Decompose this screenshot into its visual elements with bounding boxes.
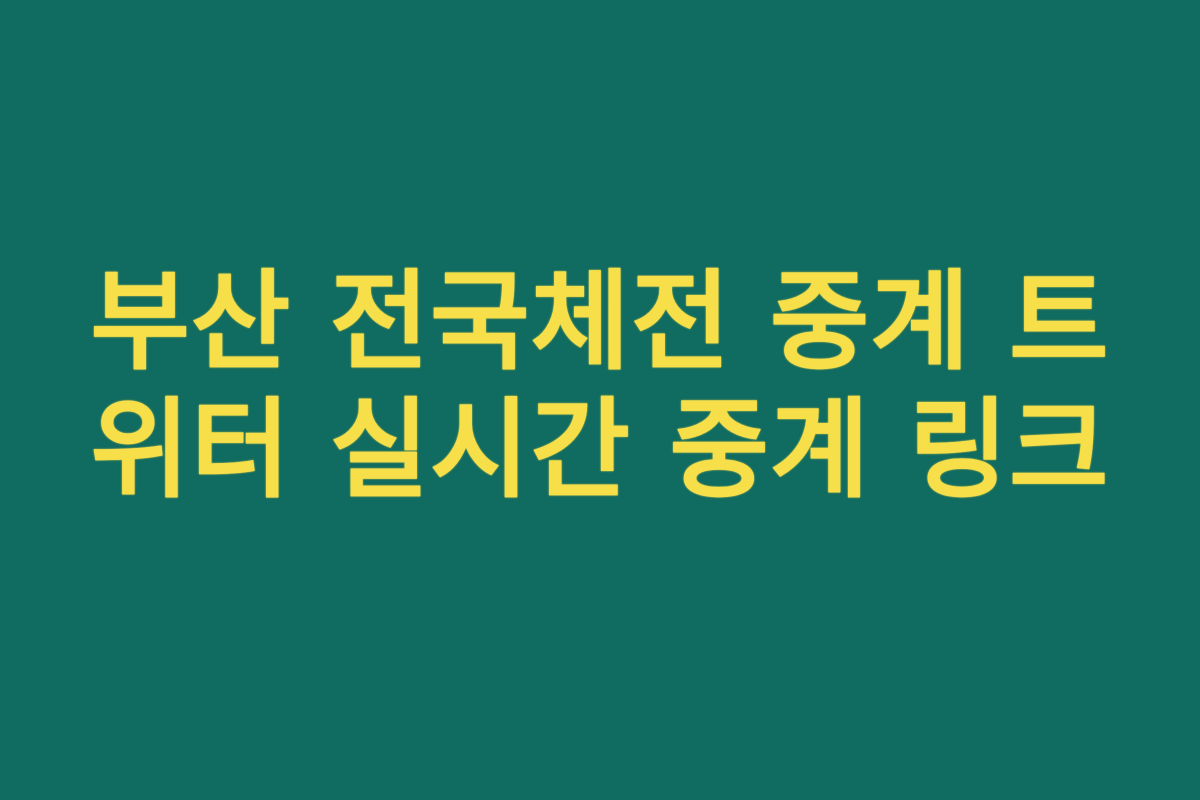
title-line-1: 부산 전국체전 중계 트	[60, 259, 1140, 387]
thumbnail-card: 부산 전국체전 중계 트 위터 실시간 중계 링크	[0, 0, 1200, 800]
title-line-2: 위터 실시간 중계 링크	[60, 387, 1140, 515]
title-block: 부산 전국체전 중계 트 위터 실시간 중계 링크	[0, 259, 1200, 515]
